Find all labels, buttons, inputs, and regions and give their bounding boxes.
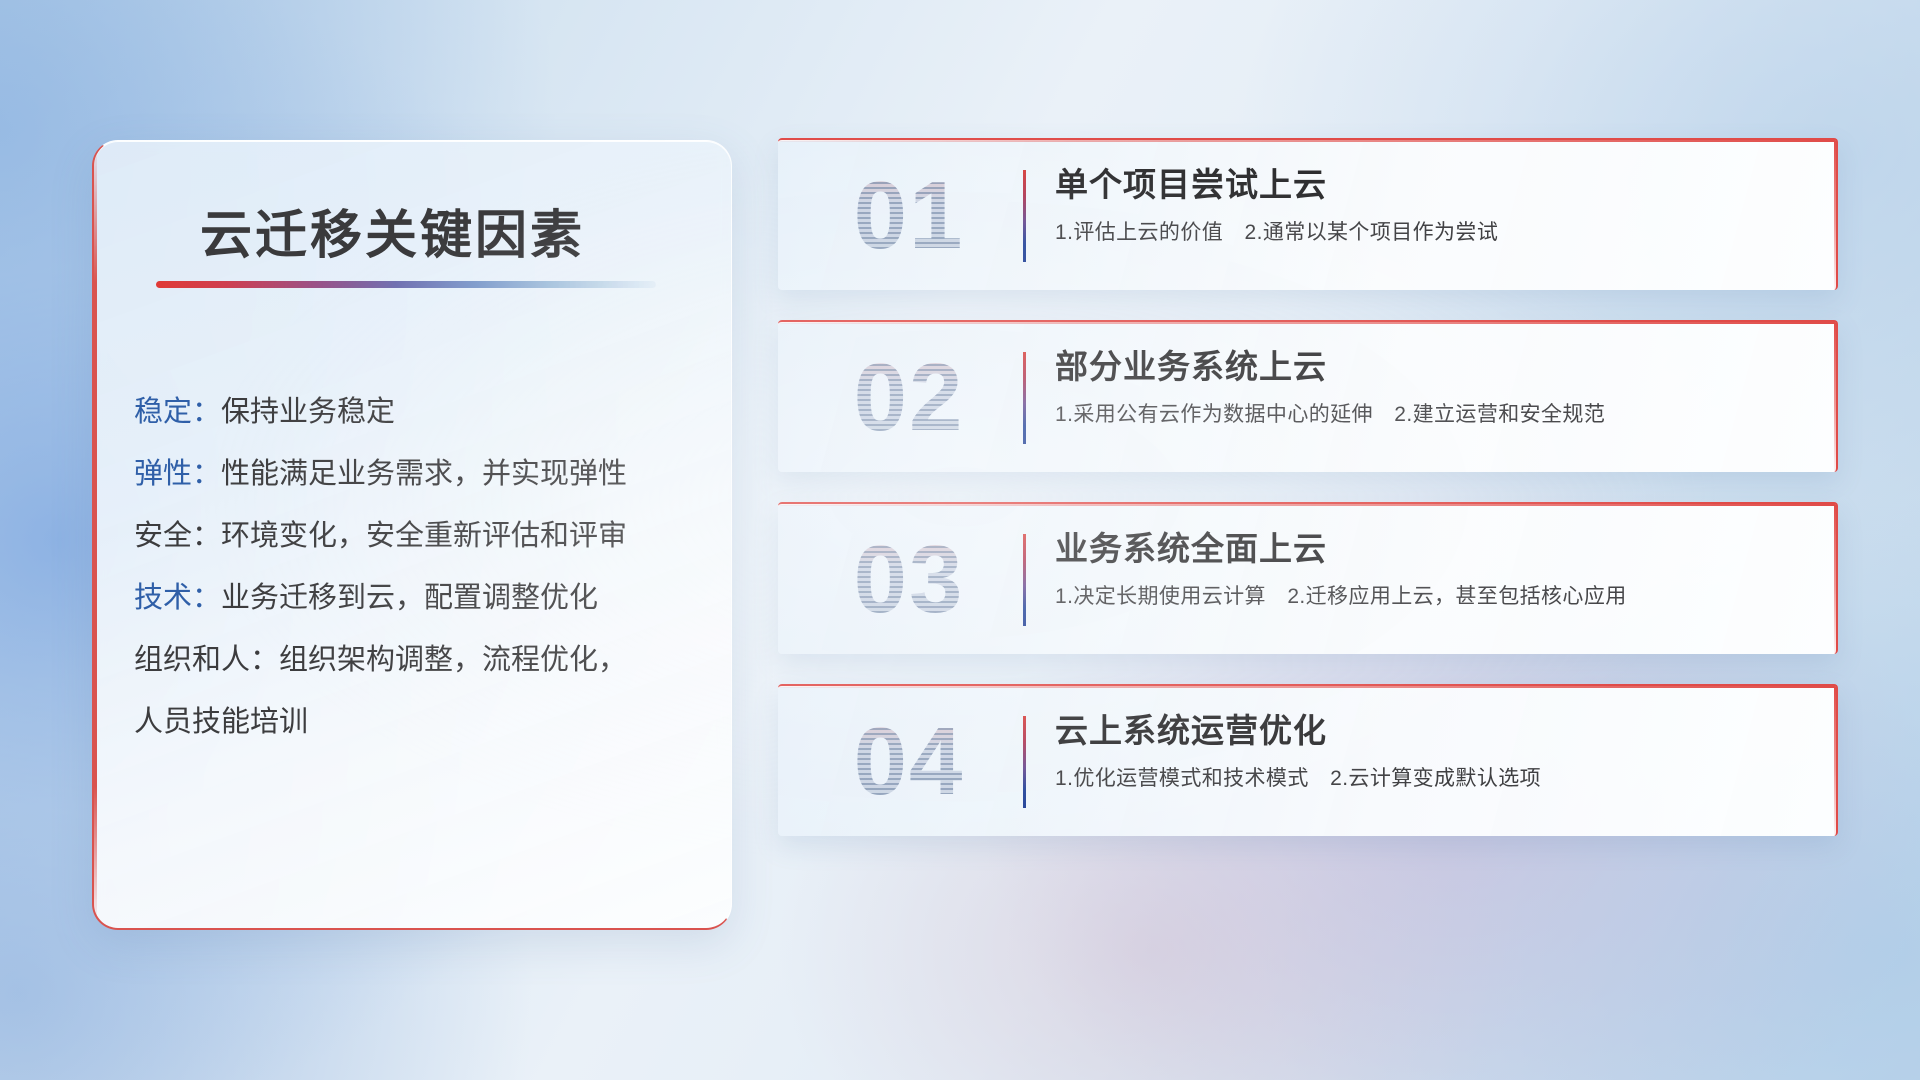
step-body: 业务系统全面上云 1.决定长期使用云计算 2.迁移应用上云，甚至包括核心应用 — [1055, 528, 1806, 611]
step-description: 1.采用公有云作为数据中心的延伸 2.建立运营和安全规范 — [1055, 401, 1806, 428]
title-underline-gradient — [156, 281, 656, 288]
key-factors-list: 稳定： 保持业务稳定 弹性： 性能满足业务需求，并实现弹性 安全： 环境变化，安… — [134, 381, 705, 753]
step-title: 业务系统全面上云 — [1055, 528, 1806, 569]
step-card-02[interactable]: 02 部分业务系统上云 1.采用公有云作为数据中心的延伸 2.建立运营和安全规范 — [778, 320, 1838, 472]
step-title: 部分业务系统上云 — [1055, 346, 1806, 387]
key-factors-panel: 云迁移关键因素 稳定： 保持业务稳定 弹性： 性能满足业务需求，并实现弹性 安全… — [92, 140, 732, 930]
step-description: 1.决定长期使用云计算 2.迁移应用上云，甚至包括核心应用 — [1055, 583, 1806, 610]
step-divider-gradient — [1023, 170, 1026, 262]
page-title: 云迁移关键因素 — [200, 193, 585, 268]
step-description: 1.评估上云的价值 2.通常以某个项目作为尝试 — [1055, 219, 1806, 246]
factor-text: 保持业务稳定 — [221, 398, 395, 427]
step-number-watermark: 02 — [814, 344, 1004, 452]
step-body: 云上系统运营优化 1.优化运营模式和技术模式 2.云计算变成默认选项 — [1055, 710, 1806, 793]
step-card-01[interactable]: 01 单个项目尝试上云 1.评估上云的价值 2.通常以某个项目作为尝试 — [778, 138, 1838, 290]
slide-canvas: 云迁移关键因素 稳定： 保持业务稳定 弹性： 性能满足业务需求，并实现弹性 安全… — [0, 0, 1920, 1080]
factor-text: 业务迁移到云，配置调整优化 — [221, 584, 598, 613]
step-body: 单个项目尝试上云 1.评估上云的价值 2.通常以某个项目作为尝试 — [1055, 164, 1806, 247]
migration-steps-list: 01 单个项目尝试上云 1.评估上云的价值 2.通常以某个项目作为尝试 02 部… — [778, 138, 1838, 866]
list-item: 人员技能培训 — [134, 691, 705, 753]
step-number-watermark: 04 — [814, 708, 1004, 816]
list-item: 稳定： 保持业务稳定 — [134, 381, 705, 443]
factor-text: 性能满足业务需求，并实现弹性 — [221, 460, 627, 489]
list-item: 组织和人： 组织架构调整，流程优化， — [134, 629, 705, 691]
factor-text: 组织架构调整，流程优化， — [279, 646, 627, 675]
factor-text: 环境变化，安全重新评估和评审 — [221, 522, 627, 551]
step-divider-gradient — [1023, 716, 1026, 808]
factor-text: 人员技能培训 — [134, 708, 308, 737]
step-title: 云上系统运营优化 — [1055, 710, 1806, 751]
step-divider-gradient — [1023, 534, 1026, 626]
list-item: 安全： 环境变化，安全重新评估和评审 — [134, 505, 705, 567]
list-item: 弹性： 性能满足业务需求，并实现弹性 — [134, 443, 705, 505]
step-divider-gradient — [1023, 352, 1026, 444]
step-body: 部分业务系统上云 1.采用公有云作为数据中心的延伸 2.建立运营和安全规范 — [1055, 346, 1806, 429]
step-number-watermark: 01 — [814, 162, 1004, 270]
factor-label: 组织和人： — [134, 646, 279, 675]
factor-label: 技术： — [134, 584, 221, 613]
step-description: 1.优化运营模式和技术模式 2.云计算变成默认选项 — [1055, 765, 1806, 792]
step-number-watermark: 03 — [814, 526, 1004, 634]
factor-label: 安全： — [134, 522, 221, 551]
factor-label: 稳定： — [134, 398, 221, 427]
list-item: 技术： 业务迁移到云，配置调整优化 — [134, 567, 705, 629]
step-card-03[interactable]: 03 业务系统全面上云 1.决定长期使用云计算 2.迁移应用上云，甚至包括核心应… — [778, 502, 1838, 654]
step-title: 单个项目尝试上云 — [1055, 164, 1806, 205]
step-card-04[interactable]: 04 云上系统运营优化 1.优化运营模式和技术模式 2.云计算变成默认选项 — [778, 684, 1838, 836]
factor-label: 弹性： — [134, 460, 221, 489]
